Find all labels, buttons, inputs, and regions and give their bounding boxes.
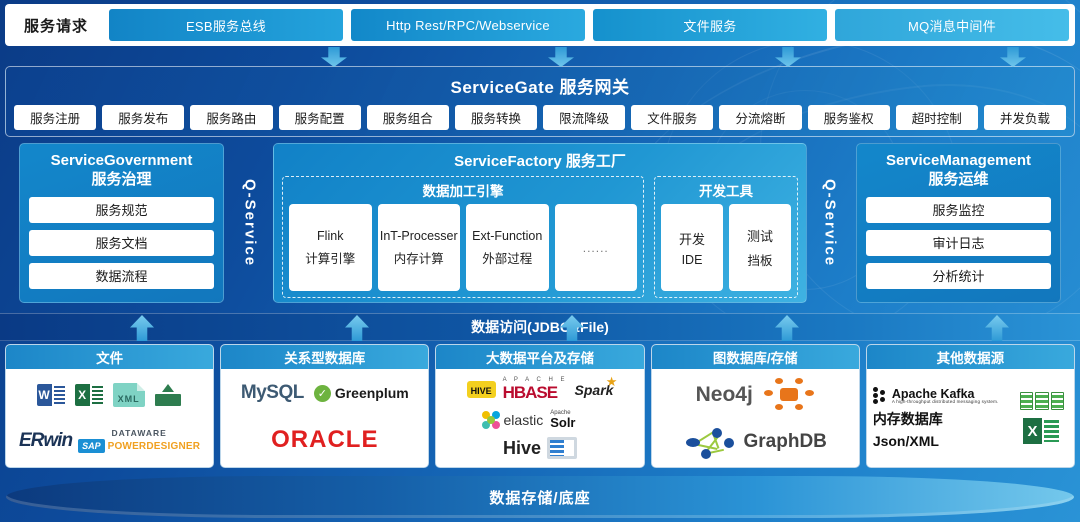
source-panel-file: 文件 W X XML ERwin DATAWARE SAP [5,344,214,468]
xml-icon: XML [113,383,145,407]
kafka-nodes-icon [873,387,889,405]
service-gate-title: ServiceGate 服务网关 [6,67,1074,98]
kafka-logo-text: Apache Kafka A high-throughput distribut… [892,388,999,405]
gate-item-service-publish[interactable]: 服务发布 [102,105,184,130]
neo4j-graph-icon [684,425,736,459]
green-doc-icon [153,384,183,406]
arrow-down-icon-4 [1000,47,1026,67]
engine-tile-int-processer-line1: InT-Processer [380,229,458,243]
neo4j-logo: Neo4j [696,383,753,407]
data-access-bar: 数据访问(JDBC&File) [0,313,1080,341]
q-service-label-left: Q-Service [233,143,267,303]
hive-logo: Hive [503,438,541,459]
solr-logo-text: Solr [550,415,575,430]
graphdb-cluster-icon [763,378,815,412]
source-panel-file-body: W X XML ERwin DATAWARE SAP POWERDESIG [6,369,213,467]
oracle-logo: ORACLE [227,426,422,454]
request-chip-file-service[interactable]: 文件服务 [593,9,827,41]
service-government-items: 服务规范 服务文档 数据流程 [29,197,214,289]
engine-tile-int-processer-line2: 内存计算 [394,248,444,267]
devtool-tile-test-stub-line2: 挡板 [747,250,772,269]
service-management-items: 服务监控 审计日志 分析统计 [866,197,1051,289]
gate-item-timeout-control[interactable]: 超时控制 [896,105,978,130]
data-access-label: 数据访问(JDBC&File) [471,317,609,337]
arrow-down-icon-1 [321,47,347,67]
devtool-tile-ide[interactable]: 开发 IDE [661,204,723,291]
engine-tile-flink-line1: Flink [317,229,343,243]
service-gate-item-row: 服务注册 服务发布 服务路由 服务配置 服务组合 服务转换 限流降级 文件服务 … [6,98,1074,130]
graphdb-logo: GraphDB [744,431,827,453]
dev-tools-title: 开发工具 [661,180,791,200]
service-management-card: ServiceManagement 服务运维 服务监控 审计日志 分析统计 [856,143,1061,303]
service-government-title-en: ServiceGovernment [29,152,214,171]
source-panel-graphdb-title: 图数据库/存储 [652,345,859,369]
gate-item-rate-limit[interactable]: 限流降级 [543,105,625,130]
source-panel-other-title: 其他数据源 [867,345,1074,369]
engine-tile-flink-line2: 计算引擎 [305,248,355,267]
management-item-analysis-stats[interactable]: 分析统计 [866,263,1051,289]
engine-tile-row: Flink 计算引擎 InT-Processer 内存计算 Ext-Functi… [289,204,637,291]
devtool-tile-ide-line2: IDE [682,253,703,267]
hive-db-icon [547,437,577,459]
source-panel-bigdata-title: 大数据平台及存储 [436,345,643,369]
excel-icon-large: X [1023,418,1061,444]
data-processing-engine-title: 数据加工引擎 [289,180,637,200]
word-icon: W [37,384,67,406]
service-government-title-cn: 服务治理 [29,171,214,190]
source-panel-relational-db-title: 关系型数据库 [221,345,428,369]
devtool-tile-ide-line1: 开发 [679,229,705,248]
source-panel-relational-db-body: MySQL Greenplum ORACLE [221,369,428,467]
devtool-tile-test-stub-line1: 测试 [747,226,773,245]
engine-tile-ext-function-line2: 外部过程 [482,248,532,267]
request-chip-mq[interactable]: MQ消息中间件 [835,9,1069,41]
governance-item-service-spec[interactable]: 服务规范 [29,197,214,223]
hive-elephant-label: HIVE [471,386,492,396]
service-management-title-cn: 服务运维 [866,171,1051,190]
elastic-logo: elastic [504,412,544,428]
arrow-down-icon-2 [548,47,574,67]
dev-tools-tile-row: 开发 IDE 测试 挡板 [661,204,791,291]
powerdesigner-logo: POWERDESIGNER [108,441,201,452]
solr-logo: Apache Solr [550,411,575,429]
service-government-title: ServiceGovernment 服务治理 [29,152,214,190]
service-management-title: ServiceManagement 服务运维 [866,152,1051,190]
data-source-panels: 文件 W X XML ERwin DATAWARE SAP [5,344,1075,468]
service-management-title-en: ServiceManagement [866,152,1051,171]
service-gate-panel: ServiceGate 服务网关 服务注册 服务发布 服务路由 服务配置 服务组… [5,66,1075,137]
source-panel-file-title: 文件 [6,345,213,369]
kafka-logo: Apache Kafka A high-throughput distribut… [873,387,999,405]
gate-item-service-auth[interactable]: 服务鉴权 [808,105,890,130]
management-item-audit-log[interactable]: 审计日志 [866,230,1051,256]
arrow-down-icon-3 [775,47,801,67]
gate-item-service-register[interactable]: 服务注册 [14,105,96,130]
dataware-logo: DATAWARE [111,428,166,438]
gate-item-service-transform[interactable]: 服务转换 [455,105,537,130]
engine-tile-more-line1: ...... [583,241,609,255]
source-panel-bigdata: 大数据平台及存储 HIVE A P A C H E HBASE ★ Spark [435,344,644,468]
storage-platform-label: 数据存储/底座 [489,487,590,508]
source-panel-other: 其他数据源 Apache Kafka A high-throughput dis… [866,344,1075,468]
elastic-dots-icon [482,411,500,429]
gate-item-service-config[interactable]: 服务配置 [279,105,361,130]
service-government-card: ServiceGovernment 服务治理 服务规范 服务文档 数据流程 [19,143,224,303]
service-request-bar: 服务请求 ESB服务总线 Http Rest/RPC/Webservice 文件… [5,4,1075,46]
oracle-logo-text: ORACLE [271,426,378,453]
gate-item-file-service[interactable]: 文件服务 [631,105,713,130]
dev-tools-group: 开发工具 开发 IDE 测试 挡板 [654,176,798,298]
q-service-label-right: Q-Service [813,143,847,303]
service-request-label: 服务请求 [11,15,101,36]
q-service-text-right: Q-Service [822,179,839,267]
request-chip-esb[interactable]: ESB服务总线 [109,9,343,41]
hbase-logo: A P A C H E HBASE [503,377,568,403]
engine-tile-flink[interactable]: Flink 计算引擎 [289,204,372,291]
engine-tile-more[interactable]: ...... [555,204,638,291]
gate-item-concurrency-load[interactable]: 并发负载 [984,105,1066,130]
devtool-tile-test-stub[interactable]: 测试 挡板 [729,204,791,291]
green-table-icon [1020,392,1064,410]
service-factory-card: ServiceFactory 服务工厂 数据加工引擎 Flink 计算引擎 In… [273,143,807,303]
excel-icon: X [75,384,105,406]
gate-item-circuit-breaker[interactable]: 分流熔断 [719,105,801,130]
service-factory-body: 数据加工引擎 Flink 计算引擎 InT-Processer 内存计算 Ext… [282,176,798,298]
governance-item-data-flow[interactable]: 数据流程 [29,263,214,289]
source-panel-graphdb-body: Neo4j [652,369,859,467]
hbase-logo-text: HBASE [503,383,558,402]
mysql-logo: MySQL [241,382,304,404]
json-xml-label: Json/XML [873,433,939,449]
source-panel-other-body: Apache Kafka A high-throughput distribut… [867,369,1074,467]
erwin-logo-text: ERwin [19,430,72,451]
erwin-logo: ERwin [19,430,72,452]
middle-layer: ServiceGovernment 服务治理 服务规范 服务文档 数据流程 Q-… [5,143,1075,308]
request-chip-http-rest[interactable]: Http Rest/RPC/Webservice [351,9,585,41]
solr-burst-icon [577,411,599,429]
source-panel-graphdb: 图数据库/存储 Neo4j [651,344,860,468]
source-panel-relational-db: 关系型数据库 MySQL Greenplum ORACLE [220,344,429,468]
kafka-subtitle: A high-throughput distributed messaging … [892,400,999,405]
greenplum-check-icon [314,385,331,402]
engine-tile-ext-function-line1: Ext-Function [472,229,542,243]
governance-item-service-doc[interactable]: 服务文档 [29,230,214,256]
greenplum-logo: Greenplum [335,385,409,401]
gate-item-service-route[interactable]: 服务路由 [190,105,272,130]
q-service-text-left: Q-Service [242,179,259,267]
xml-icon-label: XML [118,394,140,404]
data-processing-engine-group: 数据加工引擎 Flink 计算引擎 InT-Processer 内存计算 Ext… [282,176,644,298]
storage-platform-slab: 数据存储/底座 [6,476,1074,518]
gate-item-service-compose[interactable]: 服务组合 [367,105,449,130]
management-item-service-monitor[interactable]: 服务监控 [866,197,1051,223]
engine-tile-int-processer[interactable]: InT-Processer 内存计算 [378,204,461,291]
memory-db-label: 内存数据库 [873,409,943,429]
spark-logo: ★ Spark [575,382,614,398]
hive-elephant-logo: HIVE [467,381,496,398]
engine-tile-ext-function[interactable]: Ext-Function 外部过程 [466,204,549,291]
source-panel-bigdata-body: HIVE A P A C H E HBASE ★ Spark elastic [436,369,643,467]
service-factory-title: ServiceFactory 服务工厂 [282,150,798,171]
storage-platform-banner: 数据存储/底座 [0,468,1080,522]
mysql-logo-text: MySQL [241,382,304,403]
sap-logo: SAP [78,439,105,453]
spark-star-icon: ★ [606,374,618,390]
